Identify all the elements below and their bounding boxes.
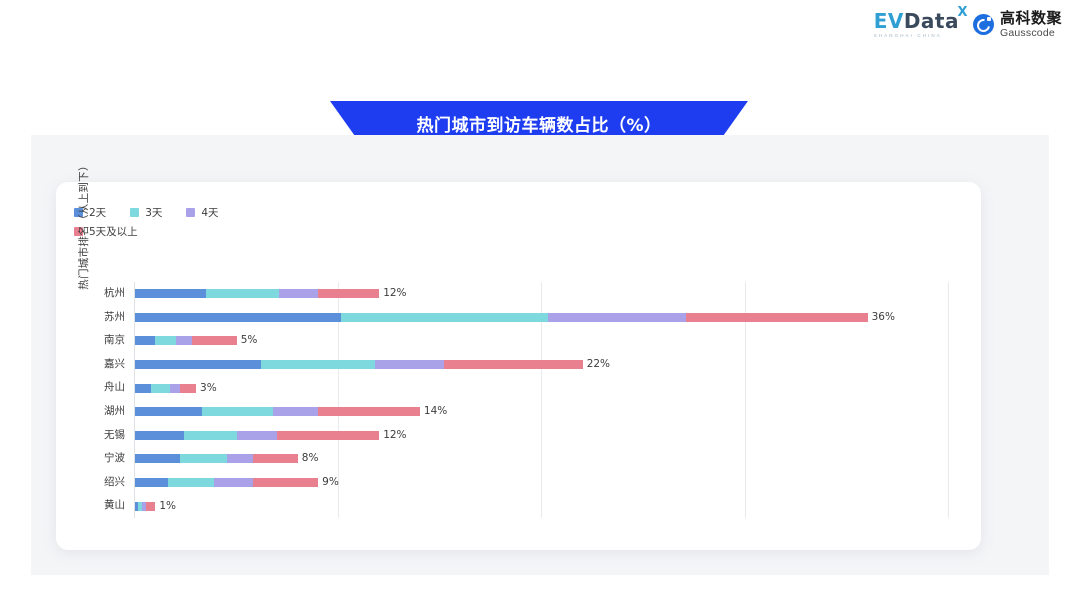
stacked-bar[interactable] bbox=[135, 478, 318, 487]
stacked-bar[interactable] bbox=[135, 289, 379, 298]
evdata-wordmark: EVData X bbox=[874, 11, 959, 31]
stacked-bar[interactable] bbox=[135, 454, 298, 463]
bar-segment[interactable] bbox=[170, 384, 180, 393]
bar-segment[interactable] bbox=[237, 431, 278, 440]
y-axis-tick-label: 嘉兴 bbox=[104, 353, 134, 377]
bar-value-label: 12% bbox=[379, 289, 406, 298]
bar-segment[interactable] bbox=[318, 289, 379, 298]
y-axis-tick-label: 苏州 bbox=[104, 306, 134, 330]
evdata-suffix: Data bbox=[904, 9, 959, 33]
chart-bar-row[interactable]: 苏州36% bbox=[134, 306, 948, 330]
plot-area: 杭州12%苏州36%南京5%嘉兴22%舟山3%湖州14%无锡12%宁波8%绍兴9… bbox=[134, 282, 948, 518]
bar-segment[interactable] bbox=[227, 454, 253, 463]
bar-segment[interactable] bbox=[184, 431, 237, 440]
bar-segment[interactable] bbox=[155, 336, 175, 345]
bar-value-label: 14% bbox=[420, 407, 447, 416]
grid-line bbox=[948, 282, 949, 518]
bar-segment[interactable] bbox=[341, 313, 549, 322]
stacked-bar[interactable] bbox=[135, 502, 155, 511]
evdata-subtitle: shanghai china bbox=[874, 33, 942, 38]
bar-segment[interactable] bbox=[180, 454, 227, 463]
chart-bar-row[interactable]: 嘉兴22% bbox=[134, 353, 948, 377]
bar-segment[interactable] bbox=[261, 360, 375, 369]
bar-segment[interactable] bbox=[135, 478, 168, 487]
y-axis-tick-label: 舟山 bbox=[104, 376, 134, 400]
gausscode-mark-icon bbox=[973, 14, 994, 35]
evdata-x-icon: X bbox=[957, 6, 968, 19]
bar-segment[interactable] bbox=[135, 384, 151, 393]
gausscode-chinese-name: 高科数聚 bbox=[1000, 11, 1062, 26]
bar-segment[interactable] bbox=[135, 289, 206, 298]
chart-bar-row[interactable]: 杭州12% bbox=[134, 282, 948, 306]
bar-segment[interactable] bbox=[273, 407, 318, 416]
stacked-bar[interactable] bbox=[135, 384, 196, 393]
bar-segment[interactable] bbox=[135, 431, 184, 440]
logo-group: EVData X shanghai china 高科数聚 Gausscode bbox=[874, 11, 1062, 39]
bar-value-label: 8% bbox=[298, 454, 319, 463]
bar-value-label: 3% bbox=[196, 384, 217, 393]
chart-bar-row[interactable]: 舟山3% bbox=[134, 376, 948, 400]
bar-segment[interactable] bbox=[135, 313, 341, 322]
chart-bar-row[interactable]: 黄山1% bbox=[134, 494, 948, 518]
bar-value-label: 36% bbox=[868, 313, 895, 322]
plot-wrapper: 热门城市排名（从上到下） 杭州12%苏州36%南京5%嘉兴22%舟山3%湖州14… bbox=[56, 182, 981, 550]
bar-segment[interactable] bbox=[279, 289, 318, 298]
bar-value-label: 9% bbox=[318, 478, 339, 487]
evdata-logo: EVData X shanghai china bbox=[874, 11, 959, 38]
chart-title-text: 热门城市到访车辆数占比（%） bbox=[416, 111, 661, 136]
chart-bar-row[interactable]: 无锡12% bbox=[134, 424, 948, 448]
y-axis-tick-label: 杭州 bbox=[104, 282, 134, 306]
header-logo-bar: EVData X shanghai china 高科数聚 Gausscode bbox=[0, 0, 1080, 58]
bar-segment[interactable] bbox=[253, 454, 298, 463]
gausscode-logo: 高科数聚 Gausscode bbox=[973, 11, 1062, 39]
bar-segment[interactable] bbox=[151, 384, 169, 393]
chart-bar-row[interactable]: 湖州14% bbox=[134, 400, 948, 424]
stacked-bar[interactable] bbox=[135, 313, 868, 322]
bar-segment[interactable] bbox=[686, 313, 867, 322]
chart-bar-row[interactable]: 南京5% bbox=[134, 329, 948, 353]
y-axis-tick-label: 南京 bbox=[104, 329, 134, 353]
gausscode-english-name: Gausscode bbox=[1000, 28, 1062, 39]
bar-segment[interactable] bbox=[135, 454, 180, 463]
bar-segment[interactable] bbox=[277, 431, 379, 440]
chart-card: 2天3天4天5天及以上 热门城市排名（从上到下） 杭州12%苏州36%南京5%嘉… bbox=[56, 182, 981, 550]
bar-segment[interactable] bbox=[176, 336, 192, 345]
stacked-bar[interactable] bbox=[135, 431, 379, 440]
bar-segment[interactable] bbox=[146, 502, 155, 511]
bar-segment[interactable] bbox=[192, 336, 237, 345]
stacked-bar[interactable] bbox=[135, 360, 583, 369]
bar-segment[interactable] bbox=[548, 313, 686, 322]
y-axis-tick-label: 黄山 bbox=[104, 494, 134, 518]
stacked-bar[interactable] bbox=[135, 407, 420, 416]
bar-segment[interactable] bbox=[202, 407, 273, 416]
bar-segment[interactable] bbox=[168, 478, 215, 487]
bar-segment[interactable] bbox=[253, 478, 318, 487]
chart-bar-row[interactable]: 宁波8% bbox=[134, 447, 948, 471]
gausscode-text: 高科数聚 Gausscode bbox=[1000, 11, 1062, 39]
bar-segment[interactable] bbox=[214, 478, 253, 487]
chart-bar-row[interactable]: 绍兴9% bbox=[134, 471, 948, 495]
bar-segment[interactable] bbox=[444, 360, 582, 369]
bar-segment[interactable] bbox=[180, 384, 196, 393]
bar-segment[interactable] bbox=[135, 336, 155, 345]
stacked-bar[interactable] bbox=[135, 336, 237, 345]
bar-value-label: 1% bbox=[155, 502, 176, 511]
y-axis-tick-label: 绍兴 bbox=[104, 471, 134, 495]
bar-segment[interactable] bbox=[135, 360, 261, 369]
y-axis-tick-label: 湖州 bbox=[104, 400, 134, 424]
bar-segment[interactable] bbox=[206, 289, 279, 298]
y-axis-title: 热门城市排名（从上到下） bbox=[76, 150, 92, 300]
evdata-prefix: EV bbox=[874, 9, 904, 33]
bar-segment[interactable] bbox=[318, 407, 420, 416]
bar-value-label: 22% bbox=[583, 360, 610, 369]
bar-value-label: 12% bbox=[379, 431, 406, 440]
y-axis-tick-label: 宁波 bbox=[104, 447, 134, 471]
bar-value-label: 5% bbox=[237, 336, 258, 345]
bar-segment[interactable] bbox=[375, 360, 444, 369]
bar-segment[interactable] bbox=[135, 407, 202, 416]
y-axis-tick-label: 无锡 bbox=[104, 424, 134, 448]
